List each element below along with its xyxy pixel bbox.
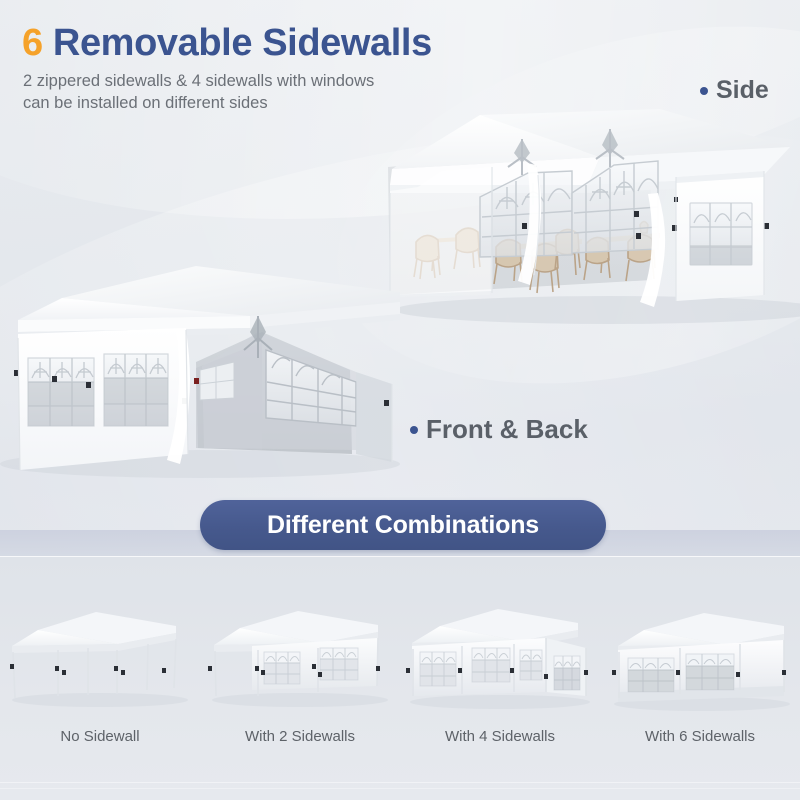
- page-subtitle: 2 zippered sidewalls & 4 sidewalls with …: [23, 70, 374, 114]
- combination-label: With 2 Sidewalls: [245, 728, 355, 745]
- tent-illustration-no-sidewall: [0, 600, 200, 718]
- page-title: 6 Removable Sidewalls: [22, 22, 432, 65]
- different-combinations-banner: Different Combinations: [200, 500, 606, 550]
- headline-text: Removable Sidewalls: [53, 22, 432, 64]
- tent-illustration-four-sidewalls: [400, 600, 600, 718]
- tent-illustration-two-sidewalls: [200, 600, 400, 718]
- bullet-dot-icon: [700, 87, 708, 95]
- combination-item-four-sidewalls: With 4 Sidewalls: [400, 600, 600, 800]
- tent-illustration-six-sidewalls: [600, 600, 800, 718]
- bullet-dot-icon: [410, 426, 418, 434]
- callout-front-back-label: Front & Back: [426, 414, 588, 445]
- combination-item-six-sidewalls: With 6 Sidewalls: [600, 600, 800, 800]
- combination-label: With 4 Sidewalls: [445, 728, 555, 745]
- combination-label: With 6 Sidewalls: [645, 728, 755, 745]
- marketing-infographic: 6 Removable Sidewalls 2 zippered sidewal…: [0, 0, 800, 800]
- combination-thumbnails: No Sidewall: [0, 600, 800, 800]
- headline-number: 6: [22, 22, 43, 64]
- callout-side: Side: [700, 76, 769, 105]
- banner-label: Different Combinations: [267, 511, 539, 540]
- hero-side-view-tent: [360, 105, 800, 335]
- combination-item-no-sidewall: No Sidewall: [0, 600, 200, 800]
- combination-item-two-sidewalls: With 2 Sidewalls: [200, 600, 400, 800]
- combination-label: No Sidewall: [60, 728, 139, 745]
- callout-side-label: Side: [716, 76, 769, 105]
- hero-front-back-tent: [0, 258, 400, 488]
- floor-hairline: [0, 556, 800, 557]
- callout-front-back: Front & Back: [410, 414, 588, 445]
